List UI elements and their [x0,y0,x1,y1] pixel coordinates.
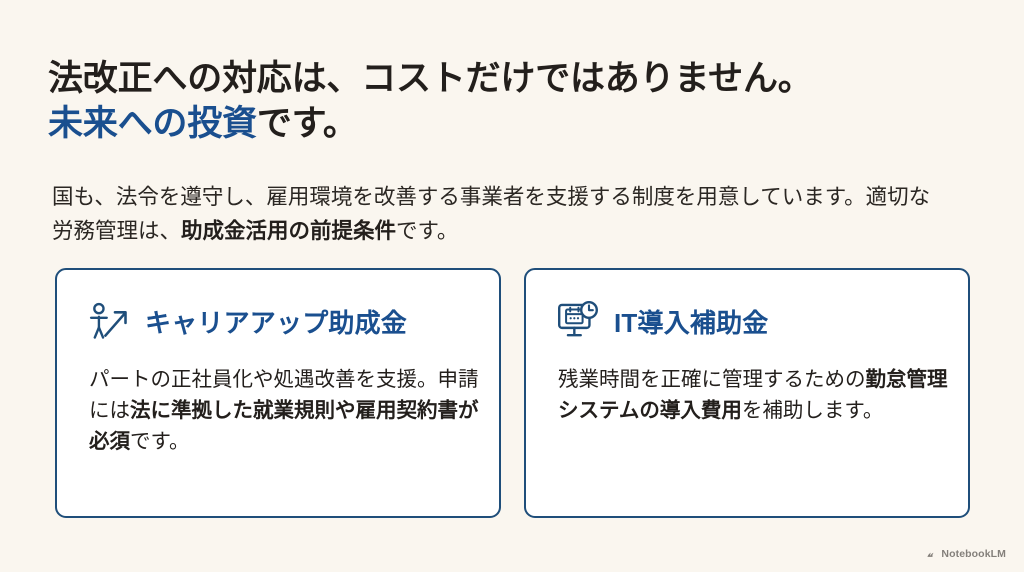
card-it-introduction-subsidy[interactable]: IT導入補助金 残業時間を正確に管理するための勤怠管理システムの導入費用を補助し… [524,268,970,518]
lead-paragraph: 国も、法令を遵守し、雇用環境を改善する事業者を支援する制度を用意しています。適切… [52,180,932,250]
card-description-part-2: です。 [130,430,189,453]
page-title: 法改正への対応は、コストだけではありません。 未来への投資です。 [48,57,978,147]
card-description-part-1: 残業時間を正確に管理するための [558,368,866,391]
notebooklm-watermark: NotebookLM [926,548,1006,560]
card-description-part-2: を補助します。 [742,399,883,422]
subsidy-card-group: キャリアアップ助成金 パートの正社員化や処遇改善を支援。申請には法に準拠した就業… [55,268,970,518]
card-header: キャリアアップ助成金 [87,298,473,344]
attendance-monitor-clock-icon [556,299,600,343]
slide-canvas: 法改正への対応は、コストだけではありません。 未来への投資です。 国も、法令を遵… [0,0,1024,572]
card-title: IT導入補助金 [614,303,769,340]
headline-line-2-rest: です。 [257,104,358,143]
card-description: 残業時間を正確に管理するための勤怠管理システムの導入費用を補助します。 [558,364,953,426]
card-career-up-subsidy[interactable]: キャリアアップ助成金 パートの正社員化や処遇改善を支援。申請には法に準拠した就業… [55,268,501,518]
lead-emphasis: 助成金活用の前提条件 [181,219,396,243]
headline-line-1: 法改正への対応は、コストだけではありません。 [48,57,978,102]
watermark-label: NotebookLM [941,548,1006,560]
card-description: パートの正社員化や処遇改善を支援。申請には法に準拠した就業規則や雇用契約書が必須… [89,364,484,457]
card-header: IT導入補助金 [556,298,942,344]
headline-accent: 未来への投資 [48,104,257,143]
card-title: キャリアアップ助成金 [145,303,407,340]
lead-text-part-2: です。 [396,219,458,243]
headline-line-2: 未来への投資です。 [48,102,978,147]
notebooklm-logo-icon [926,549,937,560]
career-growth-icon [87,299,131,343]
